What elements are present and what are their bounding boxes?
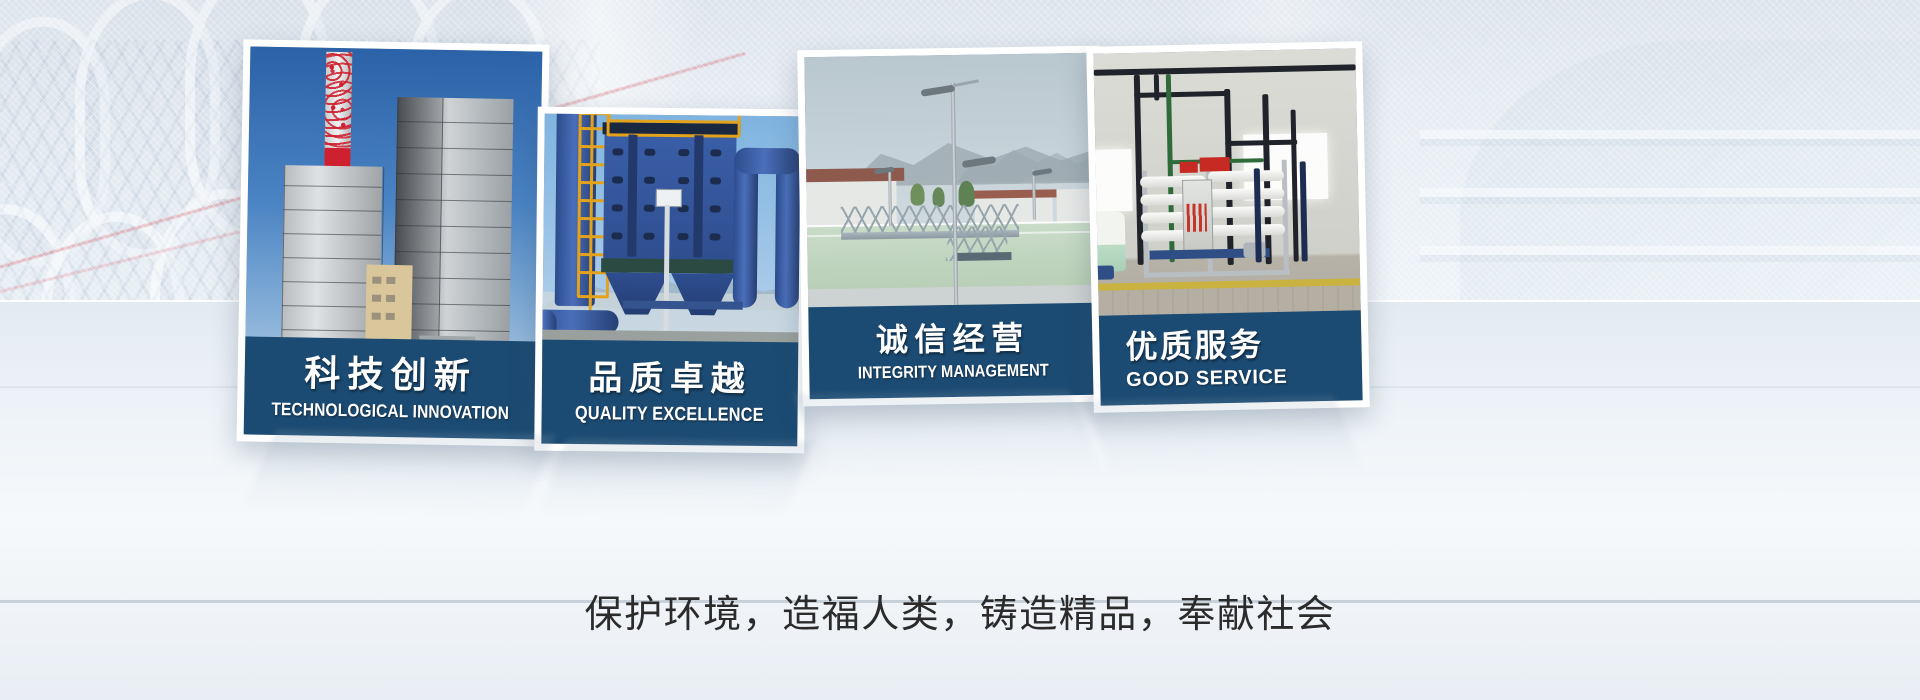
caption-zh: 科技创新 [304,355,477,394]
reflection-panel-1 [240,430,555,518]
feature-card-good-service[interactable]: 优质服务 GOOD SERVICE [1086,41,1370,413]
caption-en: GOOD SERVICE [1126,366,1288,389]
caption-technological-innovation: 科技创新 TECHNOLOGICAL INNOVATION [244,336,538,439]
feature-card-technological-innovation[interactable]: 科技创新 TECHNOLOGICAL INNOVATION [237,39,550,446]
reflection-panel-3 [794,390,1103,480]
caption-en: QUALITY EXCELLENCE [575,404,764,425]
background-glass-building [1420,10,1920,480]
reflection-panel-4 [1085,396,1366,481]
caption-integrity-management: 诚信经营 INTEGRITY MANAGEMENT [808,303,1097,400]
feature-card-integrity-management[interactable]: 诚信经营 INTEGRITY MANAGEMENT [797,46,1105,407]
caption-zh: 诚信经营 [876,321,1030,355]
caption-zh: 品质卓越 [588,361,752,397]
banner-tagline: 保护环境，造福人类，铸造精品，奉献社会 [0,583,1920,638]
caption-en: TECHNOLOGICAL INNOVATION [271,399,509,421]
caption-quality-excellence: 品质卓越 QUALITY EXCELLENCE [541,340,798,447]
caption-en: INTEGRITY MANAGEMENT [858,361,1049,381]
banner-stage: 科技创新 TECHNOLOGICAL INNOVATION [0,0,1920,700]
caption-zh: 优质服务 [1125,328,1264,363]
reflection-panel-2 [537,439,812,519]
feature-card-quality-excellence[interactable]: 品质卓越 QUALITY EXCELLENCE [534,107,808,454]
caption-good-service: 优质服务 GOOD SERVICE [1099,310,1363,405]
